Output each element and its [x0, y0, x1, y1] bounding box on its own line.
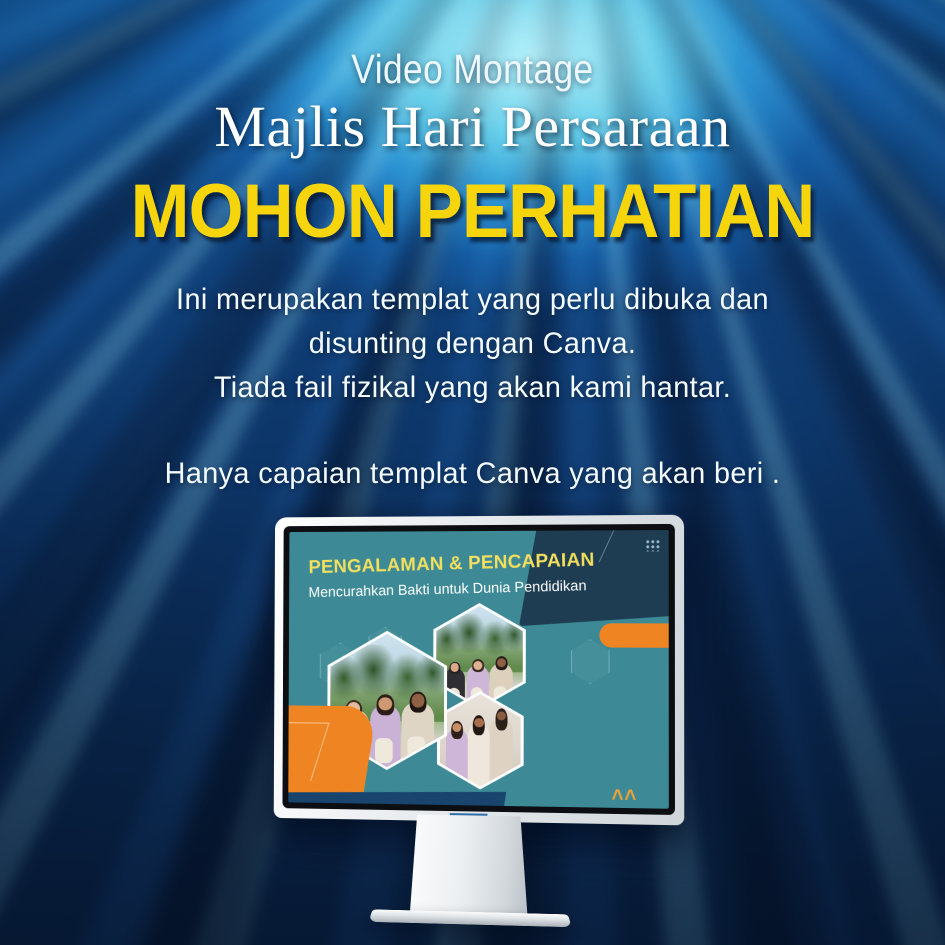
body-line-2: disunting dengan Canva.: [19, 322, 926, 366]
body-closing-line: Hanya capaian templat Canva yang akan be…: [19, 452, 926, 496]
slide-chevron-decor: ˄˄: [612, 787, 657, 804]
body-line-3: Tiada fail fizikal yang akan kami hantar…: [19, 366, 926, 410]
poster-canvas: Video Montage Majlis Hari Persaraan MOHO…: [0, 0, 945, 945]
monitor-bezel: PENGALAMAN & PENCAPAIAN Mencurahkan Bakt…: [274, 515, 685, 826]
poster-body: Ini merupakan templat yang perlu dibuka …: [19, 278, 926, 496]
page-title: Majlis Hari Persaraan: [0, 93, 945, 160]
monitor-stand-base: [368, 909, 572, 927]
monitor-mockup: PENGALAMAN & PENCAPAIAN Mencurahkan Bakt…: [265, 509, 694, 945]
poster-headline: MOHON PERHATIAN: [33, 168, 912, 255]
slide-navy-bar-decor: [288, 792, 506, 809]
body-spacer: [19, 410, 926, 452]
slide-orange-corner-shape: [288, 705, 377, 797]
body-line-1: Ini merupakan templat yang perlu dibuka …: [19, 278, 926, 322]
monitor-screen: PENGALAMAN & PENCAPAIAN Mencurahkan Bakt…: [288, 530, 669, 809]
monitor-stand-neck: [410, 814, 528, 915]
hexagon-photo: [437, 691, 524, 790]
slide-orange-outline-decor: [288, 722, 329, 781]
photo-group-selfie: [440, 694, 521, 787]
monitor-inner-frame: PENGALAMAN & PENCAPAIAN Mencurahkan Bakt…: [282, 524, 675, 815]
poster-eyebrow: Video Montage: [66, 46, 879, 93]
photo-students-waving: [436, 606, 523, 707]
